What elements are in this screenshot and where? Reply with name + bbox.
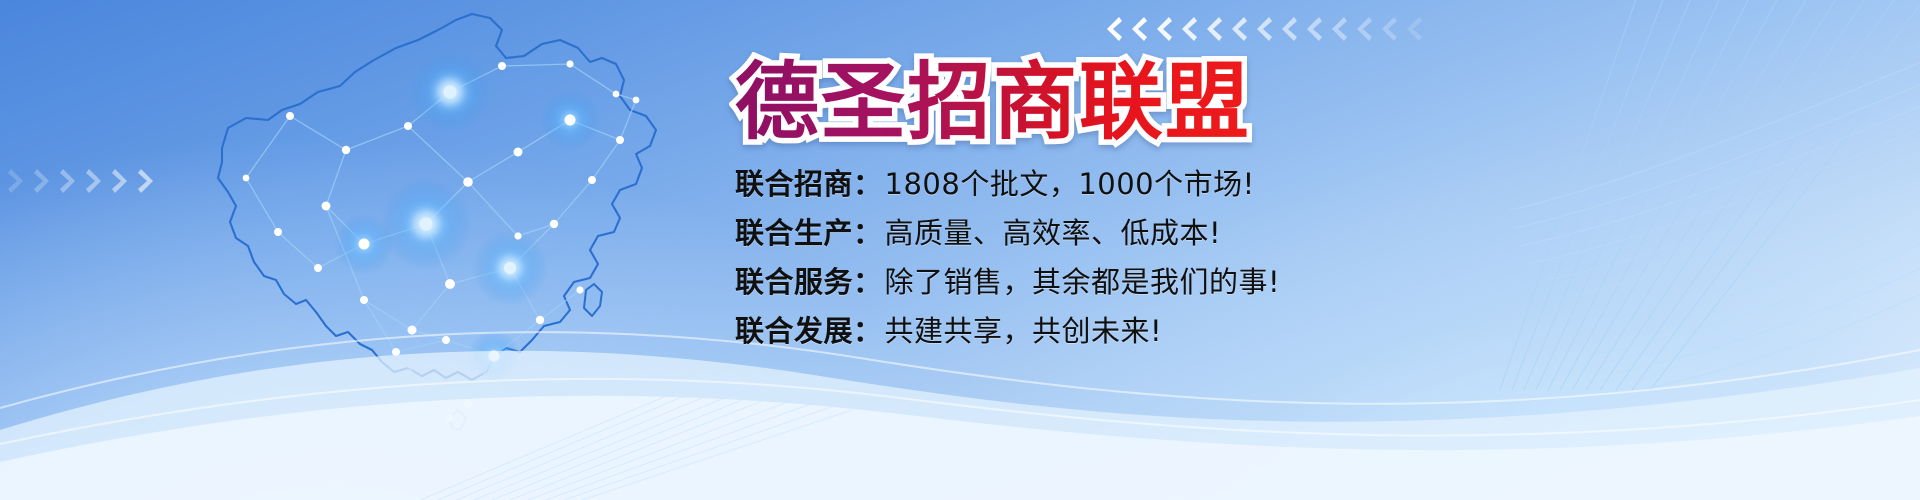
chevron-right-decoration-row: [8, 168, 155, 194]
feature-value-4: 共建共享，共创未来!: [885, 317, 1163, 346]
chevron-left-icon: [1230, 16, 1247, 42]
chevron-left-icon: [1105, 16, 1122, 42]
chevron-left-icon: [1205, 16, 1222, 42]
chevron-right-icon: [8, 168, 25, 194]
chevron-right-icon: [86, 168, 103, 194]
feature-value-2: 高质量、高效率、低成本!: [885, 219, 1222, 248]
feature-value-1: 1808个批文，1000个市场!: [885, 170, 1255, 199]
banner-title: 德圣招商联盟 德圣招商联盟: [735, 60, 1251, 146]
feature-label-1: 联合招商：: [735, 170, 883, 199]
feature-list: 联合招商： 1808个批文，1000个市场! 联合生产： 高质量、高效率、低成本…: [735, 170, 1555, 346]
banner-content: 德圣招商联盟 德圣招商联盟 联合招商： 1808个批文，1000个市场! 联合生…: [735, 60, 1555, 366]
chevron-left-icon: [1330, 16, 1347, 42]
chevron-left-icon: [1405, 16, 1422, 42]
chevron-left-icon: [1305, 16, 1322, 42]
promo-banner: 德圣招商联盟 德圣招商联盟 联合招商： 1808个批文，1000个市场! 联合生…: [0, 0, 1920, 500]
chevron-left-icon: [1180, 16, 1197, 42]
chevron-right-icon: [60, 168, 77, 194]
feature-label-4: 联合发展：: [735, 317, 883, 346]
china-map-network-icon: [150, 0, 770, 500]
chevron-left-icon: [1380, 16, 1397, 42]
feature-row-2: 联合生产： 高质量、高效率、低成本!: [735, 219, 1555, 248]
feature-row-1: 联合招商： 1808个批文，1000个市场!: [735, 170, 1555, 199]
feature-label-3: 联合服务：: [735, 268, 883, 297]
chevron-left-icon: [1155, 16, 1172, 42]
feature-value-3: 除了销售，其余都是我们的事!: [885, 268, 1281, 297]
feature-row-4: 联合发展： 共建共享，共创未来!: [735, 317, 1555, 346]
chevron-left-icon: [1130, 16, 1147, 42]
chevron-right-icon: [138, 168, 155, 194]
banner-title-fill: 德圣招商联盟: [735, 53, 1251, 151]
chevron-left-icon: [1255, 16, 1272, 42]
chevron-left-decoration-row: [1105, 16, 1422, 42]
feature-label-2: 联合生产：: [735, 219, 883, 248]
chevron-left-icon: [1355, 16, 1372, 42]
chevron-right-icon: [112, 168, 129, 194]
feature-row-3: 联合服务： 除了销售，其余都是我们的事!: [735, 268, 1555, 297]
chevron-right-icon: [34, 168, 51, 194]
chevron-left-icon: [1280, 16, 1297, 42]
